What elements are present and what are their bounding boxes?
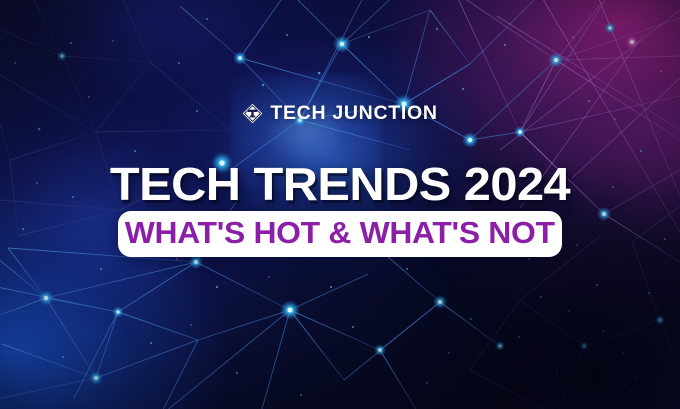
banner-content: TECH JUNCTION TECH TRENDS 2024 WHAT'S HO… — [0, 0, 680, 409]
subtitle-pill: WHAT'S HOT & WHAT'S NOT — [118, 211, 561, 257]
diamond-tech-junction-logo-icon — [242, 103, 263, 124]
subtitle-pill-wrapper: WHAT'S HOT & WHAT'S NOT — [0, 211, 680, 257]
subtitle-text: WHAT'S HOT & WHAT'S NOT — [125, 217, 555, 249]
brand-lockup: TECH JUNCTION — [0, 103, 680, 124]
page-title: TECH TRENDS 2024 — [0, 161, 680, 207]
brand-name-text: TECH JUNCTION — [270, 104, 437, 124]
tech-trends-banner: TECH JUNCTION TECH TRENDS 2024 WHAT'S HO… — [0, 0, 680, 409]
